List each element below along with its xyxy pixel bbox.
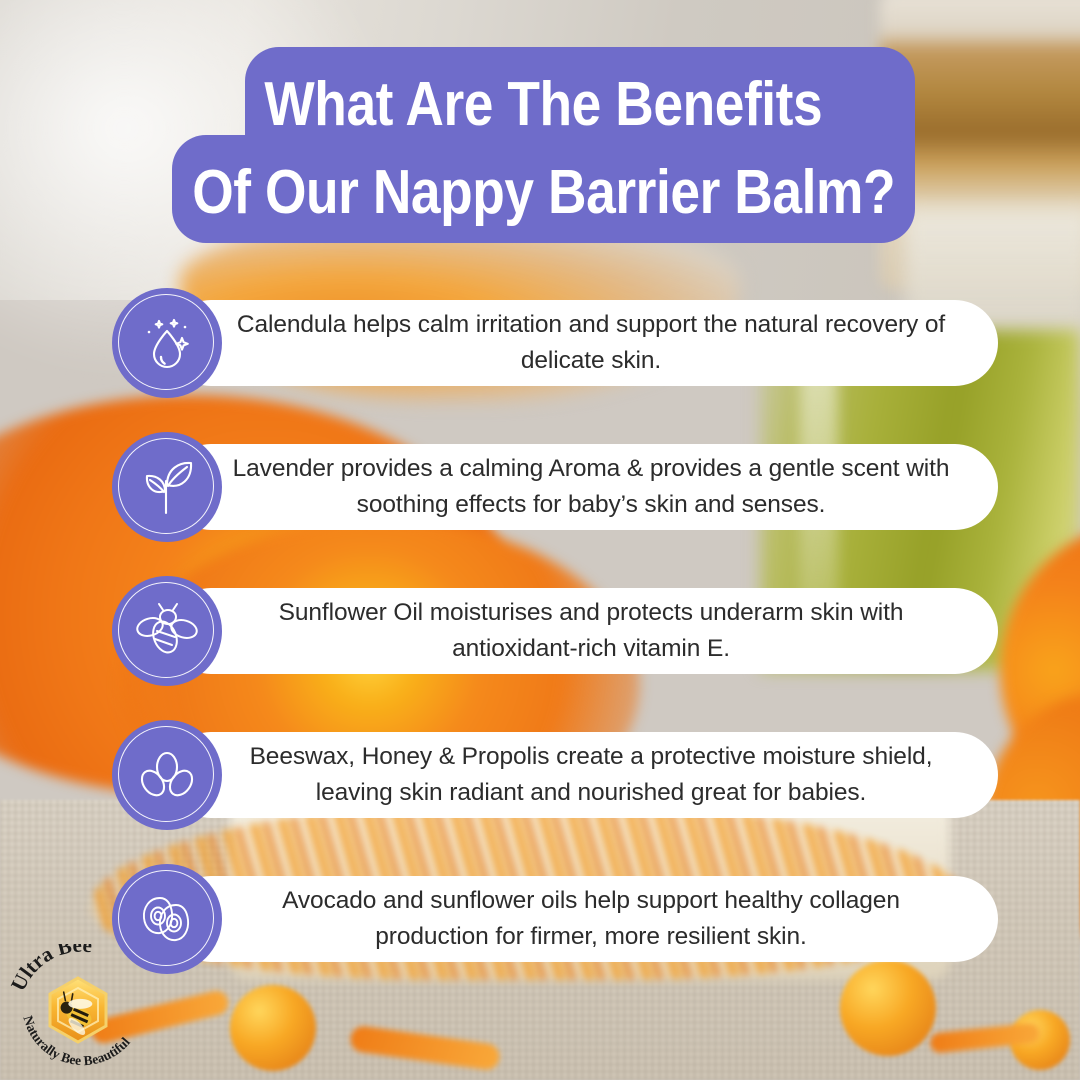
title-line-1: What Are The Benefits — [265, 61, 823, 149]
benefit-icon-badge — [112, 576, 222, 686]
benefits-list: Calendula helps calm irritation and supp… — [0, 294, 1080, 1014]
benefit-icon-badge — [112, 288, 222, 398]
leaf-sprout-icon — [135, 455, 199, 519]
page-title: What Are The Benefits Of Our Nappy Barri… — [172, 47, 915, 243]
benefit-text: Sunflower Oil moisturises and protects u… — [230, 595, 952, 667]
title-banner: What Are The Benefits Of Our Nappy Barri… — [172, 47, 915, 243]
benefit-pill: Sunflower Oil moisturises and protects u… — [168, 588, 998, 674]
benefit-icon-badge — [112, 864, 222, 974]
flower-petals-icon — [135, 743, 199, 807]
benefit-row: Calendula helps calm irritation and supp… — [0, 294, 1080, 438]
bee-icon — [135, 599, 199, 663]
benefit-pill: Calendula helps calm irritation and supp… — [168, 300, 998, 386]
benefit-row: Sunflower Oil moisturises and protects u… — [0, 582, 1080, 726]
avocado-halves-icon — [134, 886, 200, 952]
benefit-icon-badge — [112, 432, 222, 542]
benefit-pill: Beeswax, Honey & Propolis create a prote… — [168, 732, 998, 818]
benefit-row: Lavender provides a calming Aroma & prov… — [0, 438, 1080, 582]
water-droplet-sparkle-icon — [136, 312, 198, 374]
title-line-2: Of Our Nappy Barrier Balm? — [192, 149, 895, 237]
benefit-pill: Avocado and sunflower oils help support … — [168, 876, 998, 962]
benefit-text: Avocado and sunflower oils help support … — [230, 883, 952, 955]
infographic-canvas: What Are The Benefits Of Our Nappy Barri… — [0, 0, 1080, 1080]
benefit-text: Calendula helps calm irritation and supp… — [230, 307, 952, 379]
benefit-text: Beeswax, Honey & Propolis create a prote… — [230, 739, 952, 811]
benefit-pill: Lavender provides a calming Aroma & prov… — [168, 444, 998, 530]
benefit-text: Lavender provides a calming Aroma & prov… — [230, 451, 952, 523]
benefit-row: Beeswax, Honey & Propolis create a prote… — [0, 726, 1080, 870]
benefit-icon-badge — [112, 720, 222, 830]
benefit-row: Avocado and sunflower oils help support … — [0, 870, 1080, 1014]
